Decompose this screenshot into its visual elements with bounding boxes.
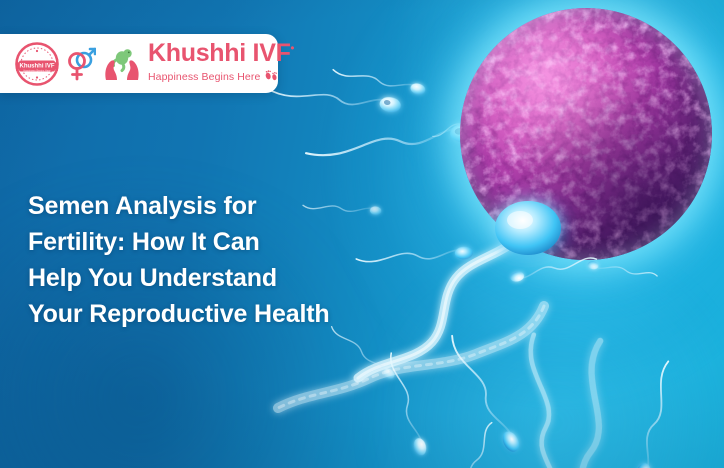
- blog-hero-banner: Khushhi IVF Happiness Begins Here: [0, 0, 724, 468]
- baby-footprints-icon: [264, 69, 278, 86]
- brand-tagline-row: Happiness Begins Here: [148, 69, 294, 86]
- brand-name-primary: Khushhi: [148, 39, 246, 67]
- brand-lockup: Khushhi IVF• Happiness Begins Here: [148, 41, 294, 86]
- headline-line-3: Help You Understand: [28, 260, 408, 296]
- logo-card[interactable]: Khushhi IVF Happiness Begins Here: [0, 34, 278, 93]
- svg-text:Khushhi IVF: Khushhi IVF: [20, 63, 55, 69]
- headline-line-1: Semen Analysis for: [28, 188, 408, 224]
- headline-line-4: Your Reproductive Health: [28, 296, 408, 332]
- svg-text:Happiness Begins Here: Happiness Begins Here: [23, 68, 51, 72]
- seal-badge-icon: Khushhi IVF Happiness Begins Here: [14, 41, 60, 87]
- headline: Semen Analysis for Fertility: How It Can…: [28, 188, 408, 332]
- hands-baby-icon: [102, 44, 142, 84]
- brand-tagline: Happiness Begins Here: [148, 72, 260, 83]
- brand-name-secondary: IVF: [253, 39, 291, 67]
- headline-line-2: Fertility: How It Can: [28, 224, 408, 260]
- brand-name: Khushhi IVF•: [148, 41, 294, 66]
- baby-glyph: [113, 49, 131, 70]
- gender-symbols-icon: [66, 44, 96, 84]
